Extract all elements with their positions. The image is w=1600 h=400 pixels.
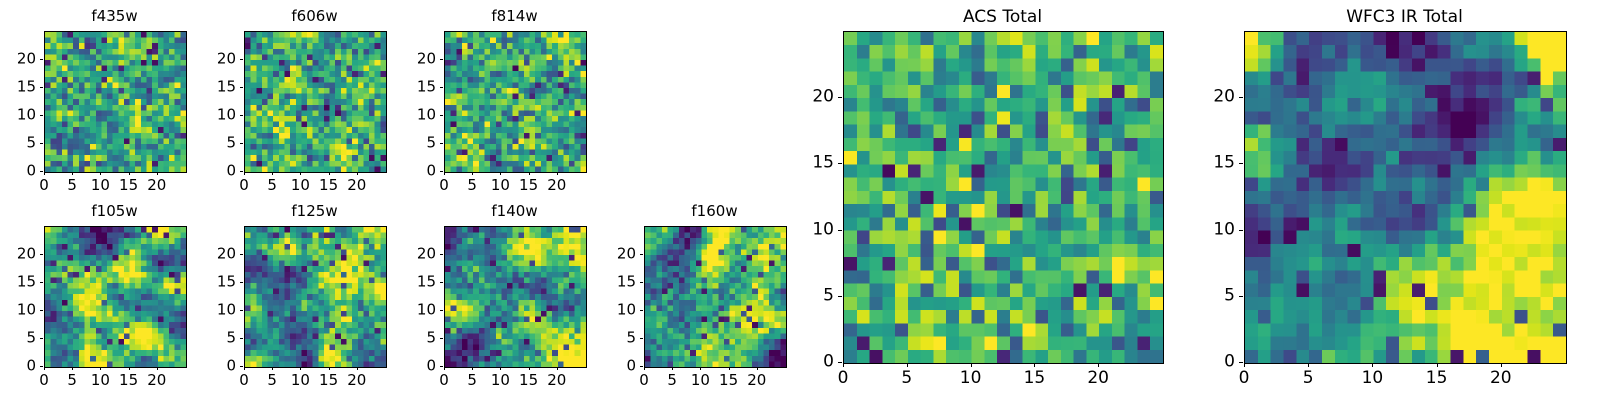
- ytick-f435w-2: [40, 115, 43, 116]
- panel-title-f105w: f105w: [44, 204, 185, 219]
- xtick-f606w-1: [272, 172, 273, 175]
- ytick-f105w-2: [40, 310, 43, 311]
- xtick-label-f160w-0: 0: [639, 373, 649, 388]
- xtick-f125w-4: [357, 367, 358, 370]
- ytick-f140w-3: [440, 282, 443, 283]
- ytick-f140w-1: [440, 338, 443, 339]
- xtick-f160w-1: [672, 367, 673, 370]
- ytick-f606w-2: [240, 115, 243, 116]
- panel-title-f140w: f140w: [444, 204, 585, 219]
- xtick-label-f125w-2: 10: [291, 373, 310, 388]
- xtick-label-f105w-1: 5: [67, 373, 77, 388]
- xtick-label-f814w-3: 15: [519, 178, 538, 193]
- xtick-f435w-4: [157, 172, 158, 175]
- ytick-acs-total-2: [838, 230, 842, 231]
- heatmap-image-acs-total: [844, 32, 1163, 363]
- panel-f105w: f105w0510152005101520: [0, 200, 189, 400]
- xtick-f814w-3: [529, 172, 530, 175]
- ytick-f814w-1: [440, 143, 443, 144]
- heatmap-acs-total[interactable]: [843, 31, 1164, 364]
- ytick-label-f105w-2: 10: [0, 303, 36, 318]
- xtick-label-f140w-0: 0: [439, 373, 449, 388]
- xtick-f814w-2: [500, 172, 501, 175]
- xtick-wfc3-ir-total-3: [1437, 363, 1438, 367]
- ytick-label-f125w-1: 5: [184, 331, 236, 346]
- xtick-label-f814w-2: 10: [491, 178, 510, 193]
- ytick-f125w-4: [240, 254, 243, 255]
- ytick-label-f140w-0: 0: [384, 359, 436, 374]
- panel-f160w: f160w0510152005101520: [584, 200, 789, 400]
- xtick-label-f125w-4: 20: [347, 373, 366, 388]
- ytick-f160w-2: [640, 310, 643, 311]
- xtick-label-f435w-4: 20: [147, 178, 166, 193]
- ytick-f105w-1: [40, 338, 43, 339]
- xtick-label-f435w-2: 10: [91, 178, 110, 193]
- ytick-label-f140w-2: 10: [384, 303, 436, 318]
- ytick-label-f140w-1: 5: [384, 331, 436, 346]
- ytick-acs-total-3: [838, 163, 842, 164]
- heatmap-image-f435w: [45, 32, 186, 172]
- xtick-label-f435w-1: 5: [67, 178, 77, 193]
- xtick-f125w-3: [329, 367, 330, 370]
- ytick-label-acs-total-4: 20: [783, 89, 834, 106]
- xtick-label-f160w-4: 20: [747, 373, 766, 388]
- xtick-label-f814w-4: 20: [547, 178, 566, 193]
- xtick-label-f105w-2: 10: [91, 373, 110, 388]
- ytick-f105w-0: [40, 366, 43, 367]
- xtick-label-wfc3-ir-total-2: 10: [1362, 370, 1384, 387]
- ytick-label-acs-total-2: 10: [783, 221, 834, 238]
- ytick-f435w-0: [40, 171, 43, 172]
- xtick-label-f435w-0: 0: [39, 178, 49, 193]
- ytick-f105w-4: [40, 254, 43, 255]
- xtick-f606w-2: [300, 172, 301, 175]
- heatmap-f435w[interactable]: [44, 31, 187, 173]
- xtick-f606w-3: [329, 172, 330, 175]
- ytick-label-f160w-3: 15: [584, 275, 636, 290]
- xtick-label-wfc3-ir-total-1: 5: [1303, 370, 1314, 387]
- ytick-label-f814w-2: 10: [384, 108, 436, 123]
- xtick-label-f606w-4: 20: [347, 178, 366, 193]
- xtick-label-f435w-3: 15: [119, 178, 138, 193]
- ytick-f140w-2: [440, 310, 443, 311]
- xtick-label-f606w-1: 5: [267, 178, 277, 193]
- xtick-f435w-3: [129, 172, 130, 175]
- ytick-f105w-3: [40, 282, 43, 283]
- ytick-f606w-3: [240, 87, 243, 88]
- xtick-f105w-2: [100, 367, 101, 370]
- ytick-label-f814w-1: 5: [384, 136, 436, 151]
- ytick-label-f606w-0: 0: [184, 164, 236, 179]
- ytick-label-f140w-3: 15: [384, 275, 436, 290]
- panel-title-f160w: f160w: [644, 204, 785, 219]
- heatmap-f105w[interactable]: [44, 226, 187, 368]
- ytick-wfc3-ir-total-2: [1239, 230, 1243, 231]
- ytick-label-f160w-1: 5: [584, 331, 636, 346]
- ytick-label-f814w-0: 0: [384, 164, 436, 179]
- ytick-label-wfc3-ir-total-1: 5: [1184, 287, 1235, 304]
- heatmap-image-f140w: [445, 227, 586, 367]
- ytick-label-f435w-3: 15: [0, 80, 36, 95]
- xtick-f105w-4: [157, 367, 158, 370]
- panel-title-wfc3-ir-total: WFC3 IR Total: [1244, 9, 1565, 26]
- xtick-f105w-0: [44, 367, 45, 370]
- heatmap-image-wfc3-ir-total: [1245, 32, 1566, 363]
- xtick-f435w-0: [44, 172, 45, 175]
- xtick-f125w-0: [244, 367, 245, 370]
- xtick-label-f105w-3: 15: [119, 373, 138, 388]
- xtick-f140w-4: [557, 367, 558, 370]
- ytick-acs-total-4: [838, 97, 842, 98]
- ytick-f160w-1: [640, 338, 643, 339]
- xtick-wfc3-ir-total-1: [1308, 363, 1309, 367]
- xtick-label-f606w-3: 15: [319, 178, 338, 193]
- panel-f814w: f814w0510152005101520: [384, 5, 589, 205]
- xtick-f160w-3: [729, 367, 730, 370]
- ytick-wfc3-ir-total-0: [1239, 362, 1243, 363]
- xtick-label-f125w-3: 15: [319, 373, 338, 388]
- xtick-f814w-1: [472, 172, 473, 175]
- xtick-acs-total-1: [907, 363, 908, 367]
- xtick-label-f606w-2: 10: [291, 178, 310, 193]
- xtick-label-acs-total-4: 20: [1087, 370, 1109, 387]
- ytick-wfc3-ir-total-1: [1239, 296, 1243, 297]
- ytick-label-f105w-3: 15: [0, 275, 36, 290]
- panel-title-f814w: f814w: [444, 9, 585, 24]
- ytick-wfc3-ir-total-4: [1239, 97, 1243, 98]
- ytick-label-f125w-2: 10: [184, 303, 236, 318]
- ytick-label-f160w-0: 0: [584, 359, 636, 374]
- ytick-label-f105w-1: 5: [0, 331, 36, 346]
- figure-canvas: f435w0510152005101520f606w05101520051015…: [0, 0, 1600, 400]
- xtick-label-f125w-1: 5: [267, 373, 277, 388]
- ytick-label-f160w-4: 20: [584, 247, 636, 262]
- xtick-label-wfc3-ir-total-0: 0: [1239, 370, 1250, 387]
- ytick-label-f435w-0: 0: [0, 164, 36, 179]
- ytick-label-f105w-4: 20: [0, 247, 36, 262]
- panel-f125w: f125w0510152005101520: [184, 200, 389, 400]
- ytick-f160w-4: [640, 254, 643, 255]
- panel-title-f125w: f125w: [244, 204, 385, 219]
- ytick-label-f606w-2: 10: [184, 108, 236, 123]
- xtick-f814w-0: [444, 172, 445, 175]
- xtick-label-wfc3-ir-total-3: 15: [1426, 370, 1448, 387]
- xtick-f606w-0: [244, 172, 245, 175]
- ytick-label-acs-total-1: 5: [783, 287, 834, 304]
- ytick-f814w-4: [440, 59, 443, 60]
- panel-wfc3-ir-total: WFC3 IR Total0510152005101520: [1184, 5, 1569, 396]
- heatmap-image-f606w: [245, 32, 386, 172]
- heatmap-f125w[interactable]: [244, 226, 387, 368]
- ytick-f435w-4: [40, 59, 43, 60]
- panel-title-f435w: f435w: [44, 9, 185, 24]
- xtick-acs-total-0: [843, 363, 844, 367]
- xtick-label-f140w-4: 20: [547, 373, 566, 388]
- ytick-label-f435w-4: 20: [0, 52, 36, 67]
- xtick-label-wfc3-ir-total-4: 20: [1490, 370, 1512, 387]
- xtick-label-f140w-3: 15: [519, 373, 538, 388]
- ytick-label-f606w-4: 20: [184, 52, 236, 67]
- xtick-label-f140w-2: 10: [491, 373, 510, 388]
- ytick-label-f160w-2: 10: [584, 303, 636, 318]
- heatmap-wfc3-ir-total[interactable]: [1244, 31, 1567, 364]
- xtick-f160w-4: [757, 367, 758, 370]
- ytick-label-f125w-3: 15: [184, 275, 236, 290]
- xtick-f125w-2: [300, 367, 301, 370]
- ytick-acs-total-0: [838, 362, 842, 363]
- ytick-label-wfc3-ir-total-4: 20: [1184, 89, 1235, 106]
- xtick-label-f606w-0: 0: [239, 178, 249, 193]
- ytick-f606w-1: [240, 143, 243, 144]
- heatmap-f140w[interactable]: [444, 226, 587, 368]
- xtick-f140w-2: [500, 367, 501, 370]
- xtick-acs-total-2: [971, 363, 972, 367]
- ytick-label-f435w-1: 5: [0, 136, 36, 151]
- xtick-acs-total-3: [1034, 363, 1035, 367]
- ytick-f140w-4: [440, 254, 443, 255]
- xtick-label-acs-total-3: 15: [1024, 370, 1046, 387]
- ytick-label-wfc3-ir-total-2: 10: [1184, 221, 1235, 238]
- ytick-label-f814w-4: 20: [384, 52, 436, 67]
- xtick-f160w-0: [644, 367, 645, 370]
- ytick-label-f606w-3: 15: [184, 80, 236, 95]
- xtick-label-f160w-3: 15: [719, 373, 738, 388]
- heatmap-f160w[interactable]: [644, 226, 787, 368]
- xtick-label-acs-total-0: 0: [838, 370, 849, 387]
- xtick-label-f105w-4: 20: [147, 373, 166, 388]
- ytick-f814w-2: [440, 115, 443, 116]
- xtick-label-f814w-1: 5: [467, 178, 477, 193]
- ytick-label-f105w-0: 0: [0, 359, 36, 374]
- xtick-f140w-1: [472, 367, 473, 370]
- ytick-acs-total-1: [838, 296, 842, 297]
- xtick-label-f140w-1: 5: [467, 373, 477, 388]
- ytick-f606w-0: [240, 171, 243, 172]
- xtick-f140w-3: [529, 367, 530, 370]
- ytick-f125w-1: [240, 338, 243, 339]
- ytick-label-f140w-4: 20: [384, 247, 436, 262]
- panel-f435w: f435w0510152005101520: [0, 5, 189, 205]
- ytick-label-wfc3-ir-total-3: 15: [1184, 155, 1235, 172]
- ytick-f435w-3: [40, 87, 43, 88]
- xtick-label-acs-total-2: 10: [960, 370, 982, 387]
- ytick-wfc3-ir-total-3: [1239, 163, 1243, 164]
- ytick-f160w-3: [640, 282, 643, 283]
- heatmap-f606w[interactable]: [244, 31, 387, 173]
- ytick-f125w-0: [240, 366, 243, 367]
- xtick-wfc3-ir-total-2: [1372, 363, 1373, 367]
- panel-title-f606w: f606w: [244, 9, 385, 24]
- ytick-f814w-3: [440, 87, 443, 88]
- xtick-f814w-4: [557, 172, 558, 175]
- ytick-label-f125w-4: 20: [184, 247, 236, 262]
- heatmap-image-f814w: [445, 32, 586, 172]
- panel-acs-total: ACS Total0510152005101520: [783, 5, 1166, 396]
- panel-f606w: f606w0510152005101520: [184, 5, 389, 205]
- xtick-f105w-3: [129, 367, 130, 370]
- ytick-f606w-4: [240, 59, 243, 60]
- xtick-f435w-1: [72, 172, 73, 175]
- heatmap-f814w[interactable]: [444, 31, 587, 173]
- heatmap-image-f160w: [645, 227, 786, 367]
- ytick-label-wfc3-ir-total-0: 0: [1184, 354, 1235, 371]
- ytick-label-acs-total-3: 15: [783, 155, 834, 172]
- ytick-f814w-0: [440, 171, 443, 172]
- xtick-f606w-4: [357, 172, 358, 175]
- ytick-f125w-2: [240, 310, 243, 311]
- xtick-label-f160w-1: 5: [667, 373, 677, 388]
- ytick-f160w-0: [640, 366, 643, 367]
- ytick-label-f814w-3: 15: [384, 80, 436, 95]
- ytick-f125w-3: [240, 282, 243, 283]
- ytick-label-acs-total-0: 0: [783, 354, 834, 371]
- xtick-f160w-2: [700, 367, 701, 370]
- xtick-label-f814w-0: 0: [439, 178, 449, 193]
- ytick-label-f125w-0: 0: [184, 359, 236, 374]
- heatmap-image-f105w: [45, 227, 186, 367]
- xtick-label-f105w-0: 0: [39, 373, 49, 388]
- xtick-acs-total-4: [1098, 363, 1099, 367]
- panel-f140w: f140w0510152005101520: [384, 200, 589, 400]
- ytick-f140w-0: [440, 366, 443, 367]
- ytick-label-f606w-1: 5: [184, 136, 236, 151]
- xtick-label-f160w-2: 10: [691, 373, 710, 388]
- panel-title-acs-total: ACS Total: [843, 9, 1162, 26]
- heatmap-image-f125w: [245, 227, 386, 367]
- xtick-f105w-1: [72, 367, 73, 370]
- xtick-f125w-1: [272, 367, 273, 370]
- xtick-label-acs-total-1: 5: [901, 370, 912, 387]
- ytick-label-f435w-2: 10: [0, 108, 36, 123]
- xtick-f140w-0: [444, 367, 445, 370]
- ytick-f435w-1: [40, 143, 43, 144]
- xtick-label-f125w-0: 0: [239, 373, 249, 388]
- xtick-wfc3-ir-total-0: [1244, 363, 1245, 367]
- xtick-wfc3-ir-total-4: [1501, 363, 1502, 367]
- xtick-f435w-2: [100, 172, 101, 175]
